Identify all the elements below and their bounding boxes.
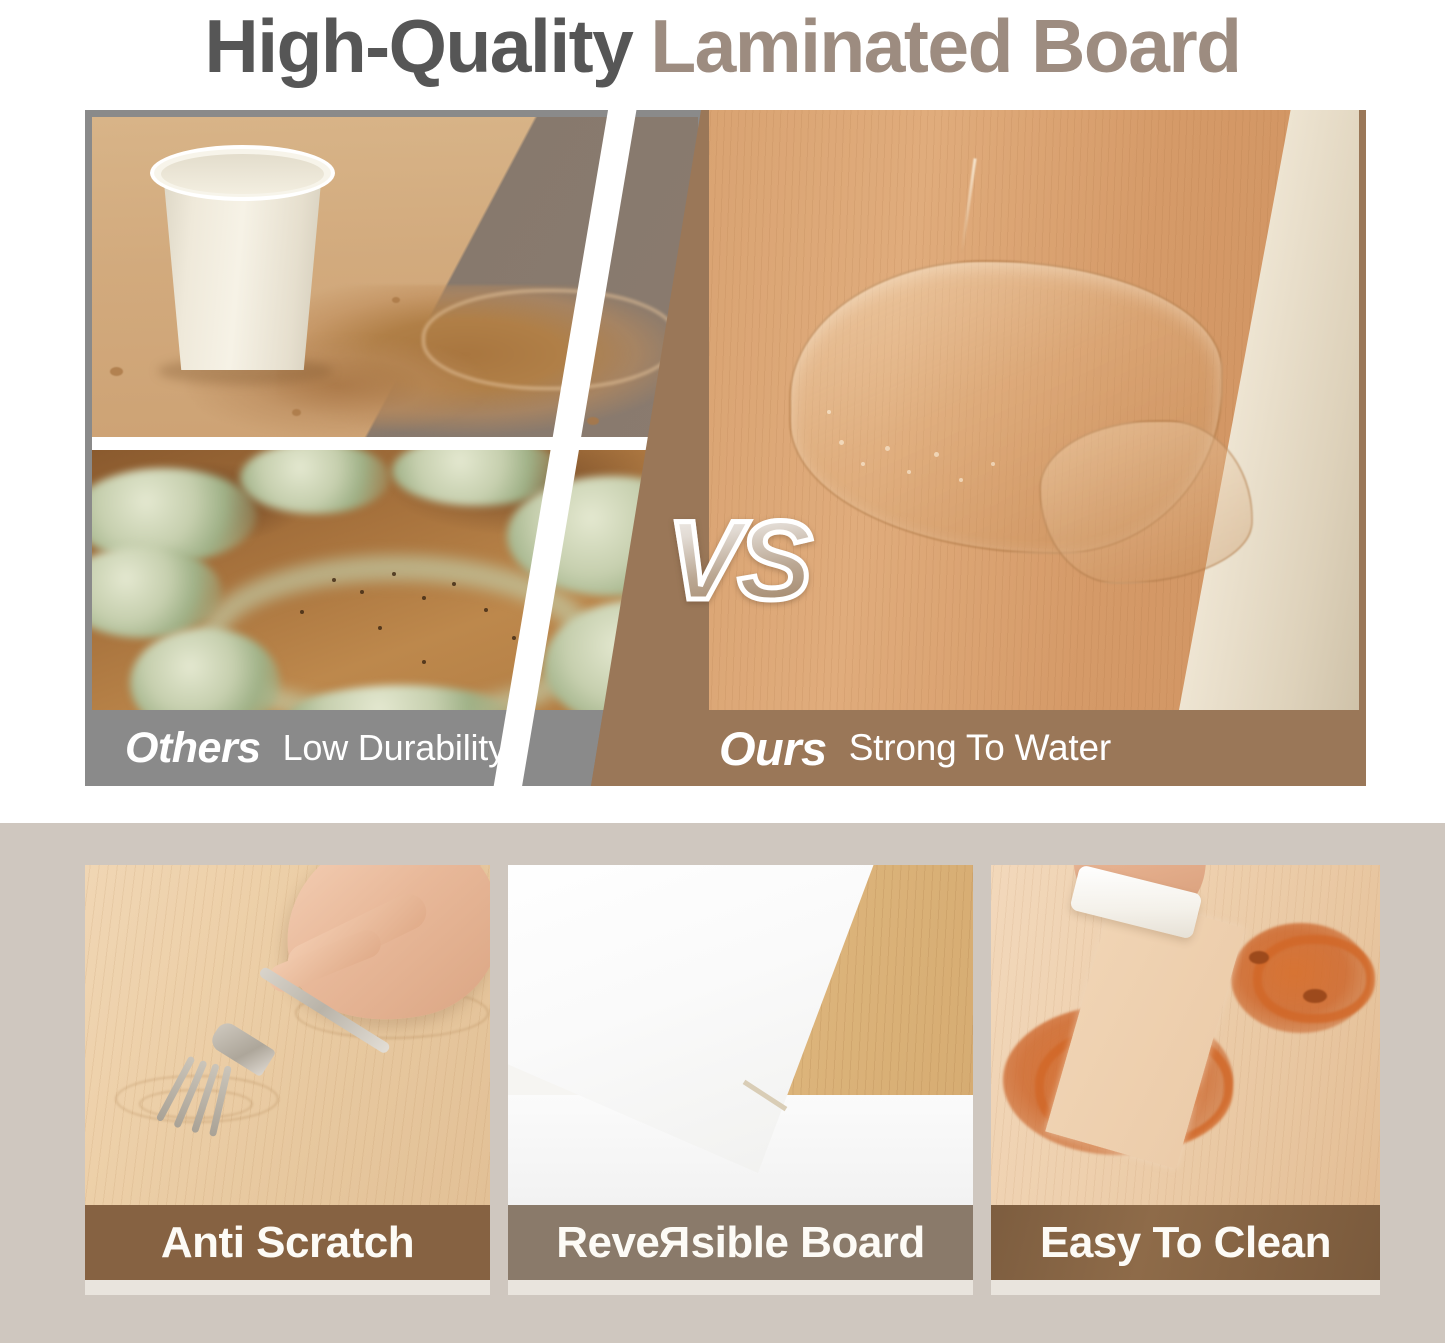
comparison-panel: Others Low Durability Ours Strong To Wat… [85, 110, 1366, 786]
ours-label: Ours [719, 721, 827, 776]
ours-caption-bar: Ours Strong To Water [591, 710, 1366, 786]
sauce-chunk [1249, 951, 1269, 964]
feature-card-reversible-board[interactable]: ReveRsible Board [508, 865, 973, 1295]
feature-label-anti-scratch: Anti Scratch [85, 1205, 490, 1280]
wipe-stain-photo [991, 865, 1380, 1205]
spill-edge-highlight [422, 289, 678, 390]
reversible-panels-photo [508, 865, 973, 1205]
paper-cup-interior [161, 154, 324, 194]
ours-side: Ours Strong To Water [591, 110, 1366, 786]
fork-scratch-photo [85, 865, 490, 1205]
liquid-droplet [292, 409, 301, 416]
feature-label-text: Easy To Clean [1040, 1221, 1331, 1265]
feature-card-easy-to-clean[interactable]: Easy To Clean [991, 865, 1380, 1295]
others-label: Others [125, 724, 261, 773]
feature-label-text: Anti Scratch [161, 1221, 414, 1265]
liquid-droplet [110, 367, 123, 376]
feature-strip: Anti Scratch ReveRsible Board [0, 823, 1445, 1343]
feature-label-text: ReveRsible Board [556, 1221, 925, 1265]
water-pool-secondary [1039, 420, 1253, 584]
others-sublabel: Low Durability [283, 727, 506, 769]
liquid-droplet [392, 297, 400, 303]
page-title-part-2: Laminated Board [650, 9, 1240, 84]
liquid-droplet [587, 417, 599, 425]
ours-sublabel: Strong To Water [849, 727, 1111, 769]
sauce-chunk [1303, 989, 1327, 1003]
feature-card-anti-scratch[interactable]: Anti Scratch [85, 865, 490, 1295]
mold-patch [240, 450, 390, 514]
feature-label-easy-to-clean: Easy To Clean [991, 1205, 1380, 1280]
feature-label-reversible-board: ReveRsible Board [508, 1205, 973, 1280]
sauce-ring [1253, 935, 1375, 1023]
reversed-r-glyph: R [659, 1221, 690, 1265]
photo-divider [92, 437, 698, 450]
page-title-part-1: High-Quality [205, 9, 633, 84]
feature-card-list: Anti Scratch ReveRsible Board [85, 865, 1380, 1295]
mold-damage-photo [92, 450, 698, 717]
vs-badge: VS [667, 505, 808, 617]
page-title: High-Quality Laminated Board [0, 0, 1445, 92]
